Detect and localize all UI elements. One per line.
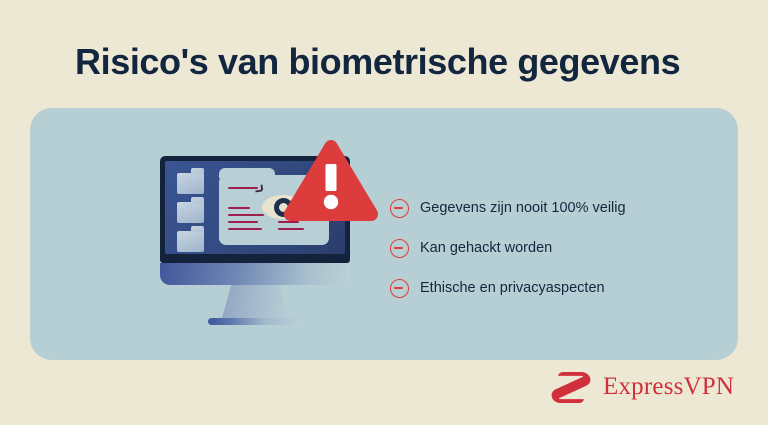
risk-label: Gegevens zijn nooit 100% veilig <box>420 199 626 217</box>
expressvpn-e-mark-icon <box>550 370 592 404</box>
folder-icon <box>177 173 204 194</box>
content-card: Gegevens zijn nooit 100% veilig Kan geha… <box>30 108 738 360</box>
folder-icon <box>177 231 204 252</box>
expressvpn-wordmark: ExpressVPN <box>603 374 734 400</box>
list-item: Kan gehackt worden <box>390 228 710 268</box>
list-item: Ethische en privacyaspecten <box>390 268 710 308</box>
monitor-chin <box>160 263 350 285</box>
document-text-line <box>228 187 258 189</box>
list-item: Gegevens zijn nooit 100% veilig <box>390 188 710 228</box>
document-text-line <box>228 207 250 209</box>
risk-label: Kan gehackt worden <box>420 239 552 257</box>
monitor-stand-neck <box>222 285 288 318</box>
monitor-stand-base <box>208 318 304 325</box>
document-mark-icon <box>255 184 264 192</box>
folder-icon <box>177 202 204 223</box>
minus-circle-icon <box>390 199 409 218</box>
minus-circle-icon <box>390 279 409 298</box>
document-text-line <box>228 228 262 230</box>
minus-circle-icon <box>390 239 409 258</box>
warning-triangle-icon <box>282 138 380 222</box>
document-text-line <box>278 228 304 230</box>
biometric-risk-illustration <box>130 138 380 338</box>
risk-label: Ethische en privacyaspecten <box>420 279 605 297</box>
expressvpn-logo: ExpressVPN <box>550 370 734 404</box>
page-title: Risico's van biometrische gegevens <box>75 40 715 84</box>
infographic-page: Risico's van biometrische gegevens <box>0 0 768 425</box>
document-text-line <box>228 221 258 223</box>
risk-list: Gegevens zijn nooit 100% veilig Kan geha… <box>390 188 710 308</box>
document-text-line <box>228 214 264 216</box>
